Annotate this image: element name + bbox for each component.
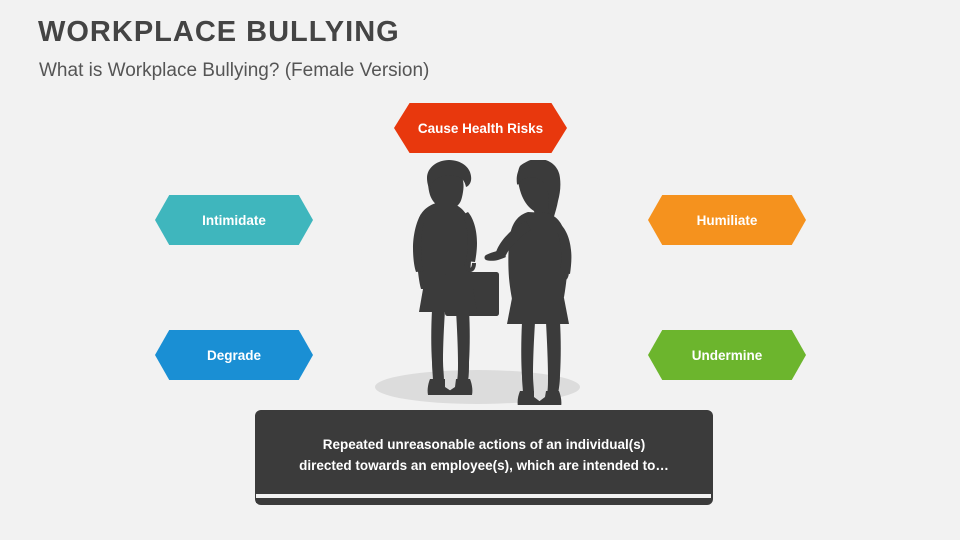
description-box: Repeated unreasonable actions of an indi… bbox=[255, 410, 713, 505]
two-women-silhouette-icon bbox=[370, 160, 590, 405]
description-base-bar bbox=[256, 498, 711, 503]
label-cause-health-risks[interactable]: Cause Health Risks bbox=[394, 103, 567, 153]
page-subtitle: What is Workplace Bullying? (Female Vers… bbox=[39, 60, 429, 82]
description-text: Repeated unreasonable actions of an indi… bbox=[274, 434, 694, 476]
label-text: Intimidate bbox=[202, 213, 266, 228]
label-text: Undermine bbox=[692, 348, 763, 363]
label-intimidate[interactable]: Intimidate bbox=[155, 195, 313, 245]
label-degrade[interactable]: Degrade bbox=[155, 330, 313, 380]
label-undermine[interactable]: Undermine bbox=[648, 330, 806, 380]
label-text: Degrade bbox=[207, 348, 261, 363]
label-text: Cause Health Risks bbox=[418, 121, 543, 136]
slide: WORKPLACE BULLYING What is Workplace Bul… bbox=[0, 0, 960, 540]
label-humiliate[interactable]: Humiliate bbox=[648, 195, 806, 245]
page-title: WORKPLACE BULLYING bbox=[38, 16, 400, 49]
label-text: Humiliate bbox=[697, 213, 758, 228]
